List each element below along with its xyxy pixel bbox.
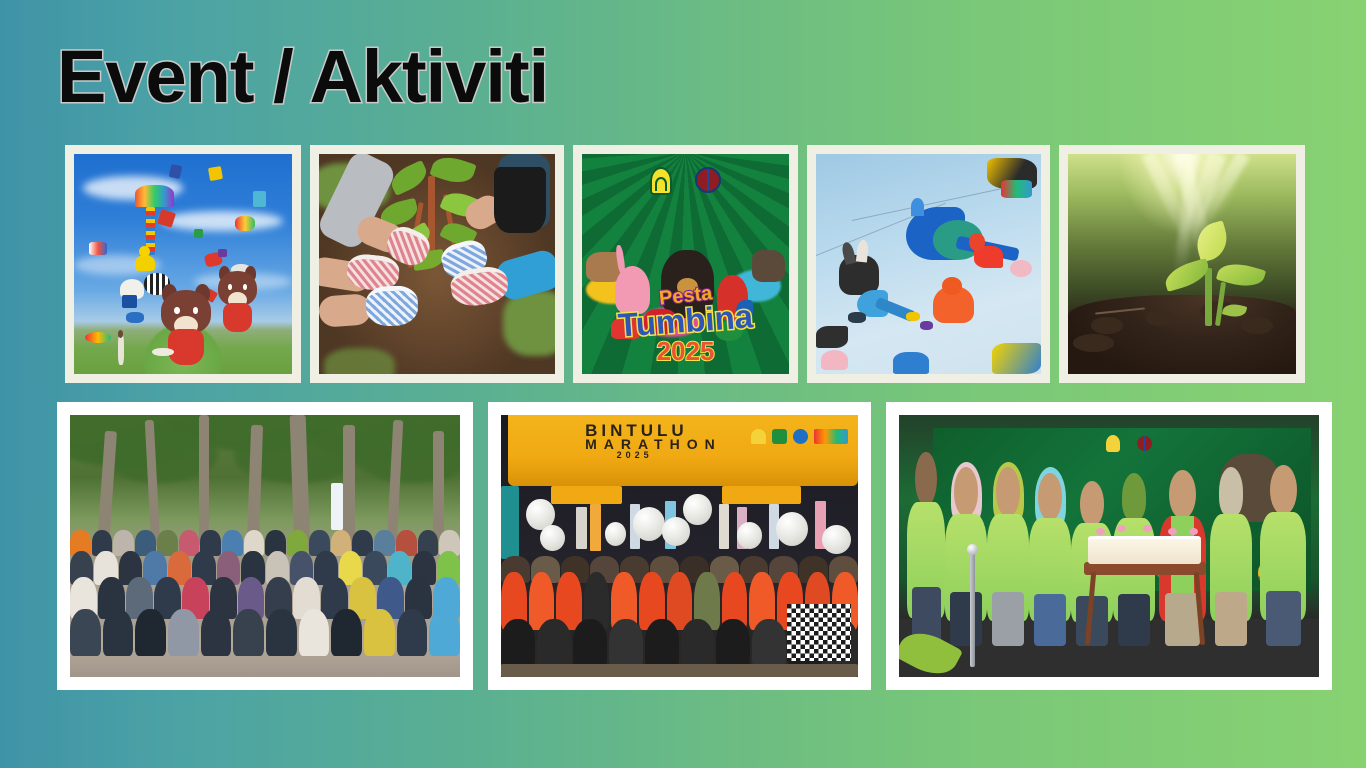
checkered-flag-icon [787, 604, 851, 662]
photo-community-run-park [70, 415, 460, 677]
mosque-crest-icon [1106, 435, 1120, 452]
stanchion-post [970, 551, 975, 666]
gallery-item-seedling-sunlight[interactable] [1059, 145, 1305, 383]
photo-seedling-sunlight [1068, 154, 1296, 374]
photo-pesta-tumbina-poster: Pesta Tumbina 2025 [582, 154, 789, 374]
gallery-item-bintulu-marathon-start[interactable]: BINTULU MARATHON 2025 [488, 402, 871, 690]
ceremonial-cake [1088, 536, 1201, 565]
photo-animal-kites-sky [816, 154, 1041, 374]
photo-cake-cutting-ceremony [899, 415, 1319, 677]
photo-bintulu-marathon-start: BINTULU MARATHON 2025 [501, 415, 858, 677]
globe-crest-icon [695, 167, 721, 193]
marathon-banner-line3: 2025 [617, 450, 653, 460]
globe-crest-icon [1137, 436, 1152, 451]
bintulu-council-icon [772, 429, 787, 444]
gallery-row-top: Pesta Tumbina 2025 [65, 145, 1305, 383]
sarawak-wordmark-icon [814, 429, 848, 444]
sarawak-crest-icon [751, 429, 766, 444]
marathon-banner-line2: MARATHON [585, 436, 722, 452]
photo-tree-planting-gloves [319, 154, 555, 374]
mosque-crest-icon [650, 167, 672, 195]
marathon-arch-banner: BINTULU MARATHON 2025 [508, 415, 858, 486]
gallery-item-tree-planting-gloves[interactable] [310, 145, 564, 383]
gallery-item-kite-festival-field[interactable] [65, 145, 301, 383]
bintulu-port-icon [793, 429, 808, 444]
gallery-item-community-run-park[interactable] [57, 402, 473, 690]
gallery-item-pesta-tumbina-poster[interactable]: Pesta Tumbina 2025 [573, 145, 798, 383]
page-title: Event / Aktiviti [57, 40, 548, 114]
poster-logos [582, 167, 789, 195]
photo-kite-festival-field [74, 154, 292, 374]
poster-title: Pesta Tumbina 2025 [582, 285, 789, 367]
gallery-row-bottom: BINTULU MARATHON 2025 [57, 402, 1332, 690]
gallery-item-cake-cutting-ceremony[interactable] [886, 402, 1332, 690]
gallery-item-animal-kites-sky[interactable] [807, 145, 1050, 383]
